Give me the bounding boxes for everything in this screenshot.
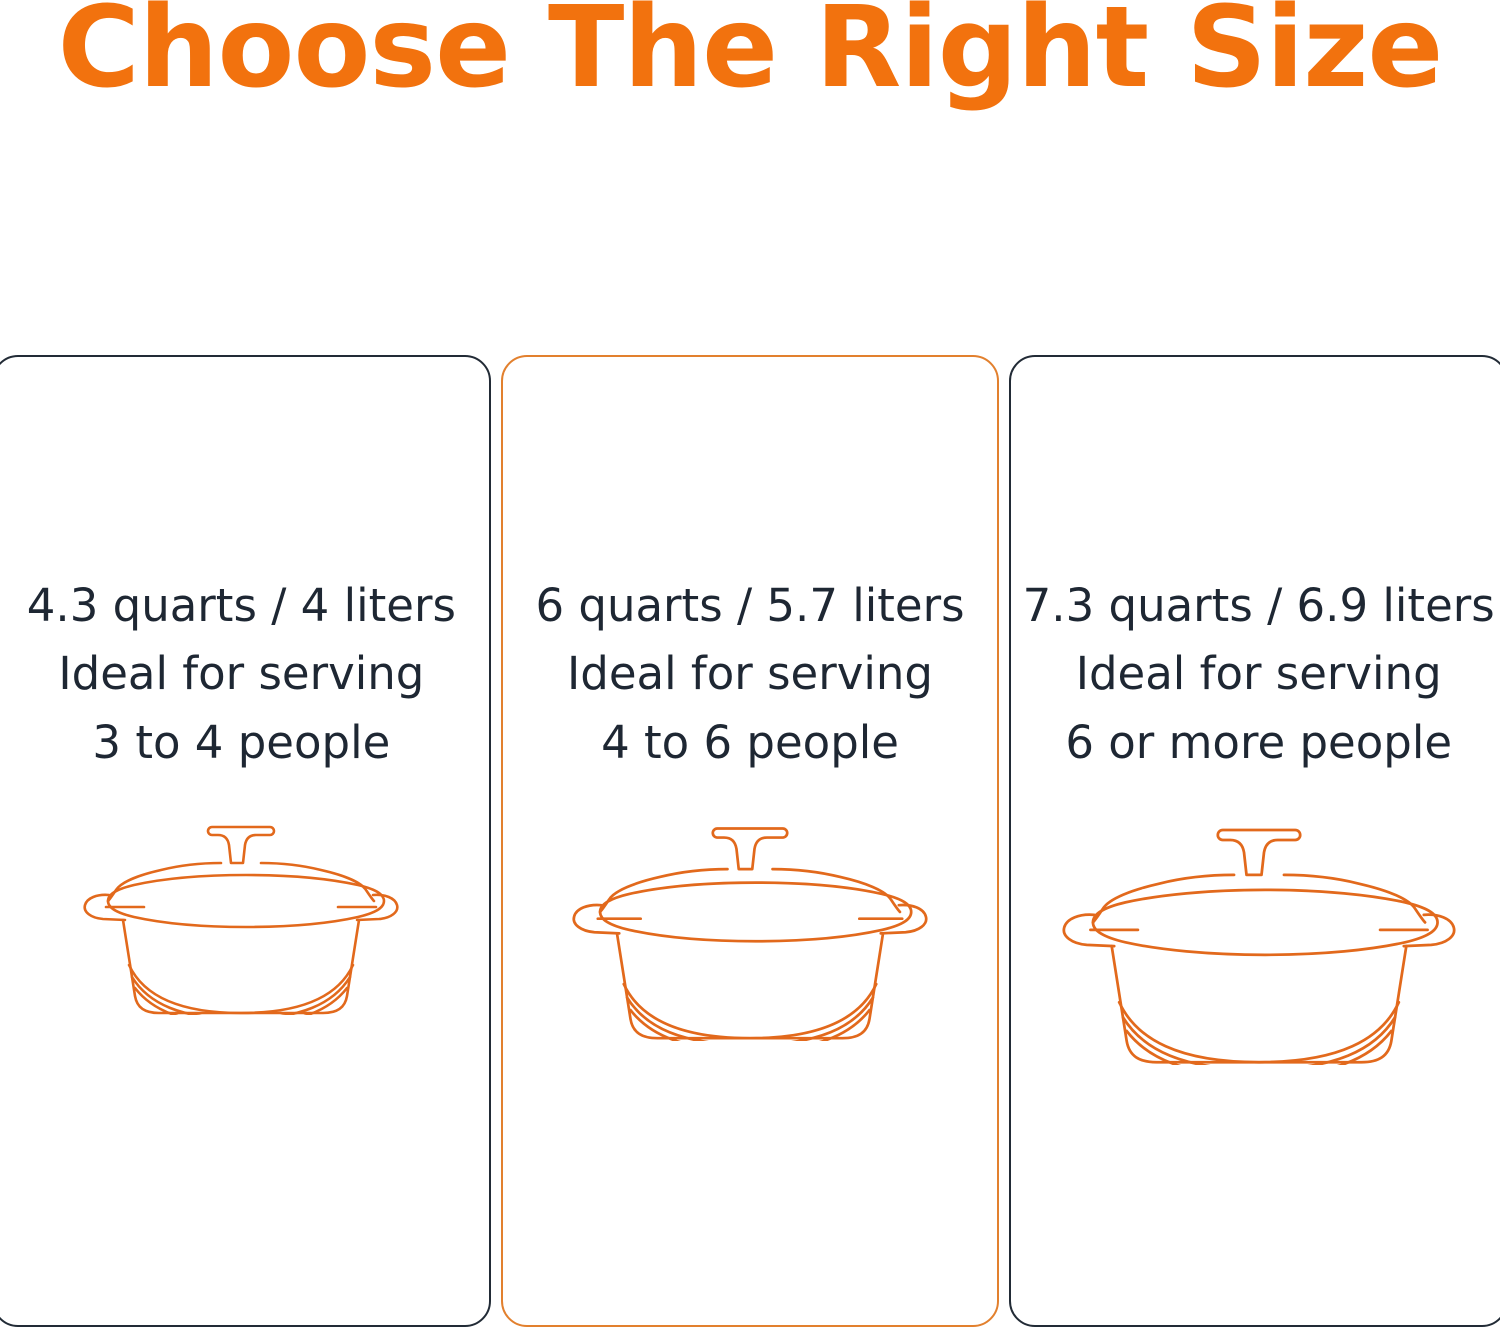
serving-prefix-label: Ideal for serving: [509, 640, 992, 708]
size-card-small-text: 4.3 quarts / 4 liters Ideal for serving …: [0, 572, 489, 777]
serving-count-label: 6 or more people: [1017, 709, 1500, 777]
serving-count-label: 3 to 4 people: [0, 709, 483, 777]
pot-illustration-wrap: [503, 815, 998, 1325]
size-card-small[interactable]: 4.3 quarts / 4 liters Ideal for serving …: [0, 355, 491, 1327]
dutch-oven-pot-icon: [76, 815, 406, 1015]
serving-count-label: 4 to 6 people: [509, 709, 992, 777]
dutch-oven-pot-icon: [1053, 815, 1465, 1065]
capacity-label: 6 quarts / 5.7 liters: [509, 572, 992, 640]
pot-illustration-wrap: [0, 815, 489, 1325]
size-card-row: 4.3 quarts / 4 liters Ideal for serving …: [0, 355, 1500, 1327]
pot-illustration-wrap: [1011, 815, 1500, 1325]
size-card-medium[interactable]: 6 quarts / 5.7 liters Ideal for serving …: [501, 355, 1000, 1327]
size-card-large-text: 7.3 quarts / 6.9 liters Ideal for servin…: [1011, 572, 1500, 777]
capacity-label: 7.3 quarts / 6.9 liters: [1017, 572, 1500, 640]
serving-prefix-label: Ideal for serving: [1017, 640, 1500, 708]
size-card-medium-text: 6 quarts / 5.7 liters Ideal for serving …: [503, 572, 998, 777]
dutch-oven-pot-icon: [564, 815, 936, 1040]
size-card-large[interactable]: 7.3 quarts / 6.9 liters Ideal for servin…: [1009, 355, 1500, 1327]
serving-prefix-label: Ideal for serving: [0, 640, 483, 708]
capacity-label: 4.3 quarts / 4 liters: [0, 572, 483, 640]
page-title: Choose The Right Size: [0, 0, 1500, 111]
